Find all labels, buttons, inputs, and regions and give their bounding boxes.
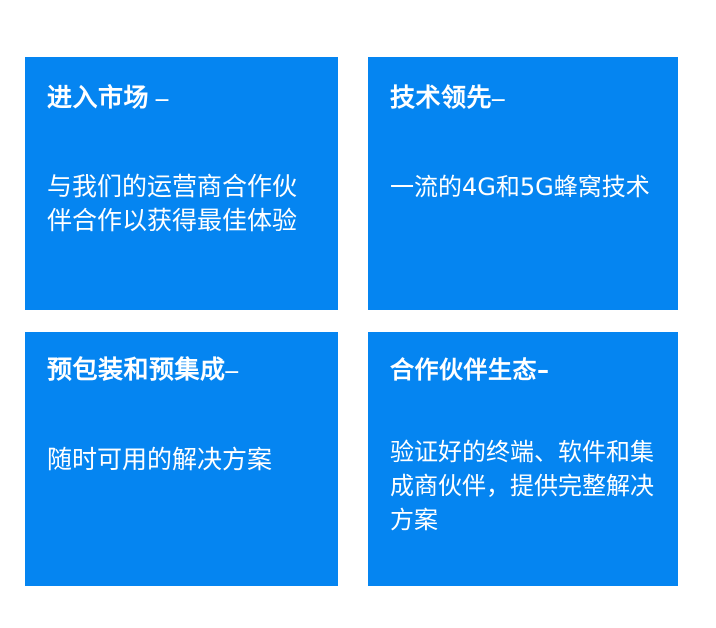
card-title: 预包装和预集成– <box>47 356 316 386</box>
card-body: 随时可用的解决方案 <box>47 444 316 478</box>
card-pre-packaged-pre-integrated[interactable]: 预包装和预集成– 随时可用的解决方案 <box>25 332 338 586</box>
card-title: 技术领先– <box>390 84 656 114</box>
card-body: 验证好的终端、软件和集成商伙伴，提供完整解决方案 <box>390 435 656 537</box>
card-body: 一流的4G和5G蜂窝技术 <box>390 171 656 204</box>
card-technology-leadership[interactable]: 技术领先– 一流的4G和5G蜂窝技术 <box>368 57 678 310</box>
card-title: 合作伙伴生态– <box>390 356 656 385</box>
card-body: 与我们的运营商合作伙伴合作以获得最佳体验 <box>47 171 316 239</box>
card-grid: 进入市场 – 与我们的运营商合作伙伴合作以获得最佳体验 技术领先– 一流的4G和… <box>0 0 716 628</box>
card-go-to-market[interactable]: 进入市场 – 与我们的运营商合作伙伴合作以获得最佳体验 <box>25 57 338 310</box>
card-title: 进入市场 – <box>47 84 316 114</box>
card-partner-ecosystem[interactable]: 合作伙伴生态– 验证好的终端、软件和集成商伙伴，提供完整解决方案 <box>368 332 678 586</box>
